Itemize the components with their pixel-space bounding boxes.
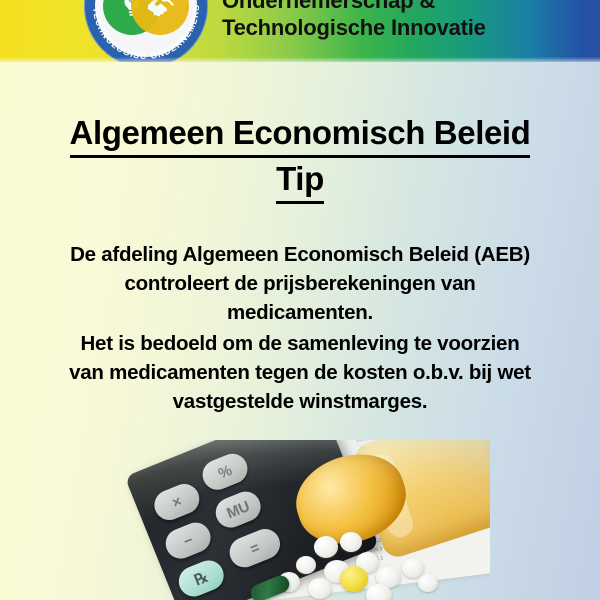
poster-canvas: TECHNOLOGISCHE INNOVATIE ONDERNEMERSCHAP…	[0, 0, 600, 600]
body-paragraph-1: De afdeling Algemeen Economisch Beleid (…	[14, 240, 586, 327]
pill	[314, 536, 338, 558]
pill-yellow	[340, 566, 368, 592]
header-gradient-band: TECHNOLOGISCHE INNOVATIE ONDERNEMERSCHAP…	[0, 0, 600, 62]
page-title: Algemeen Economisch Beleid Tip	[0, 112, 600, 204]
pill	[308, 578, 332, 599]
organization-name: Ondernemerschap & Technologische Innovat…	[222, 0, 592, 41]
pill	[402, 558, 424, 578]
page-title-line2: Tip	[276, 158, 324, 204]
body-paragraph-2: Het is bedoeld om de samenleving te voor…	[14, 329, 586, 416]
handshake-icon	[131, 0, 189, 35]
calculator-key-multiply[interactable]: ×	[150, 480, 204, 525]
pill	[340, 532, 362, 552]
pill	[418, 574, 438, 592]
calculator-pills-photo: 1.184,5 59,9% 1,55 208,6 19,5% 331,6 12,…	[118, 440, 490, 600]
page-title-line1: Algemeen Economisch Beleid	[70, 112, 531, 158]
entrepreneurship-gold-circle	[131, 0, 189, 35]
body-copy: De afdeling Algemeen Economisch Beleid (…	[14, 240, 586, 416]
logo-inner-disc	[95, 0, 197, 57]
calculator-key-markup[interactable]: MU	[211, 487, 265, 532]
calculator-key-prescription[interactable]: ℞	[174, 556, 228, 600]
pill	[366, 584, 392, 600]
pill	[296, 556, 316, 574]
calculator-key-minus[interactable]: −	[161, 518, 215, 563]
calculator-key-percent[interactable]: %	[198, 449, 252, 494]
calculator-key-equals[interactable]: =	[225, 525, 284, 572]
organization-logo: TECHNOLOGISCHE INNOVATIE ONDERNEMERSCHAP	[84, 0, 208, 62]
